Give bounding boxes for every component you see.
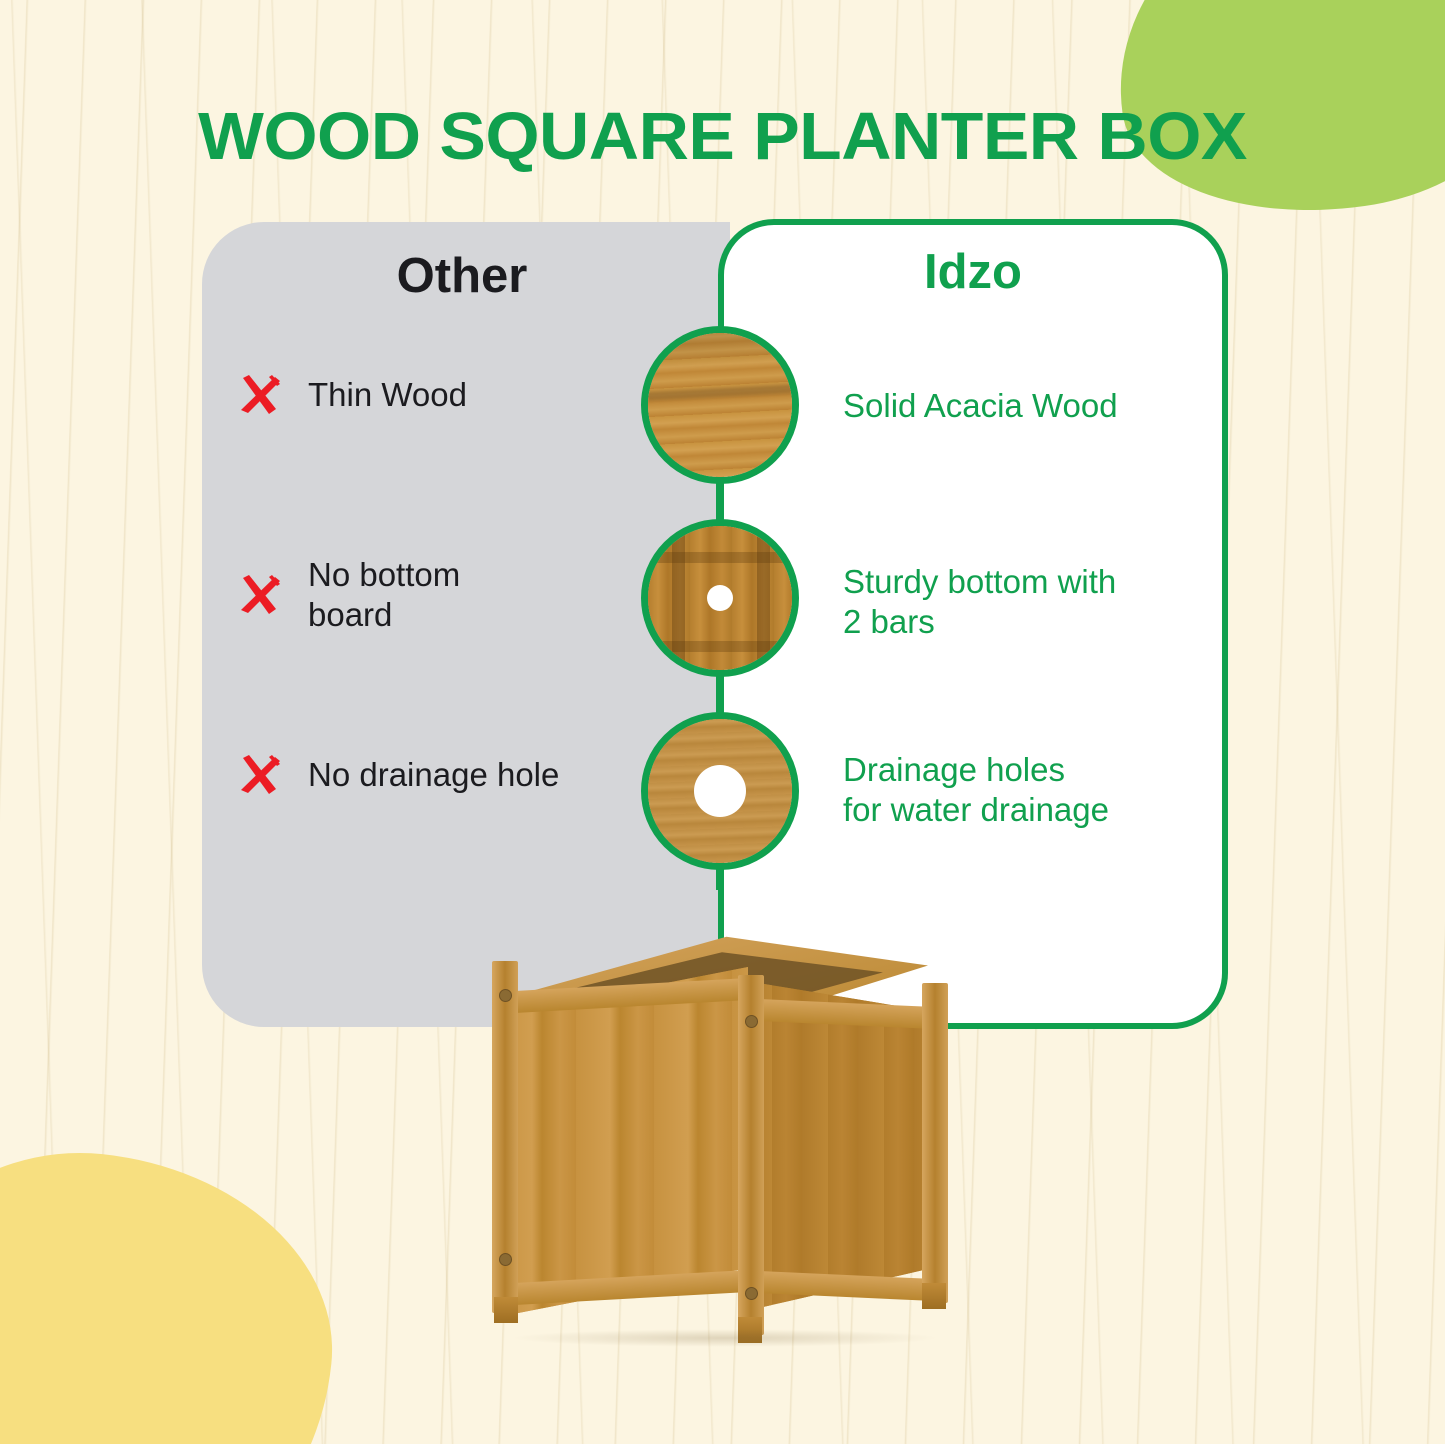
decorative-yellow-blob bbox=[0, 1130, 351, 1444]
planter-corner-post-left bbox=[492, 961, 518, 1313]
comparison-row-3-con: No drainage hole bbox=[236, 752, 656, 798]
red-x-icon bbox=[236, 572, 282, 618]
drainage-hole bbox=[707, 585, 733, 611]
product-image-planter-box bbox=[470, 925, 970, 1345]
screw-icon bbox=[499, 989, 512, 1002]
comparison-row-1-con: Thin Wood bbox=[236, 372, 656, 418]
planter-foot bbox=[494, 1297, 518, 1323]
screw-icon bbox=[745, 1287, 758, 1300]
column-heading-other: Other bbox=[202, 252, 722, 301]
comparison-row-3-con-label: No drainage hole bbox=[308, 755, 559, 795]
page-title: WOOD SQUARE PLANTER BOX bbox=[0, 103, 1445, 170]
product-shadow bbox=[510, 1329, 940, 1347]
wood-grain-texture bbox=[648, 333, 792, 477]
planter-right-face bbox=[746, 981, 946, 1311]
drainage-hole bbox=[694, 765, 746, 817]
comparison-row-1-pro-label: Solid Acacia Wood bbox=[843, 386, 1223, 426]
comparison-row-3-pro-label: Drainage holes for water drainage bbox=[843, 750, 1223, 831]
planter-foot bbox=[922, 1283, 946, 1309]
comparison-row-2-con-label: No bottom board bbox=[308, 555, 460, 636]
planter-left-face bbox=[498, 967, 748, 1317]
plank-seam-bottom bbox=[648, 641, 792, 652]
screw-icon bbox=[499, 1253, 512, 1266]
red-x-icon bbox=[236, 752, 282, 798]
comparison-row-2-con: No bottom board bbox=[236, 555, 656, 636]
wood-plank-texture bbox=[648, 526, 792, 670]
medallion-wood-grain-closeup bbox=[641, 326, 799, 484]
medallion-planter-bottom-with-bars bbox=[641, 519, 799, 677]
plank-seam-top bbox=[648, 552, 792, 563]
infographic-canvas: WOOD SQUARE PLANTER BOX Other Idzo Thin … bbox=[0, 0, 1445, 1444]
red-x-icon bbox=[236, 372, 282, 418]
comparison-row-2-pro-label: Sturdy bottom with 2 bars bbox=[843, 562, 1223, 643]
planter-corner-post-right bbox=[922, 983, 948, 1303]
wood-surface-texture bbox=[648, 719, 792, 863]
medallion-drainage-hole-closeup bbox=[641, 712, 799, 870]
column-heading-idzo: Idzo bbox=[718, 248, 1228, 297]
comparison-row-1-con-label: Thin Wood bbox=[308, 375, 467, 415]
screw-icon bbox=[745, 1015, 758, 1028]
planter-corner-post-center bbox=[738, 975, 764, 1335]
